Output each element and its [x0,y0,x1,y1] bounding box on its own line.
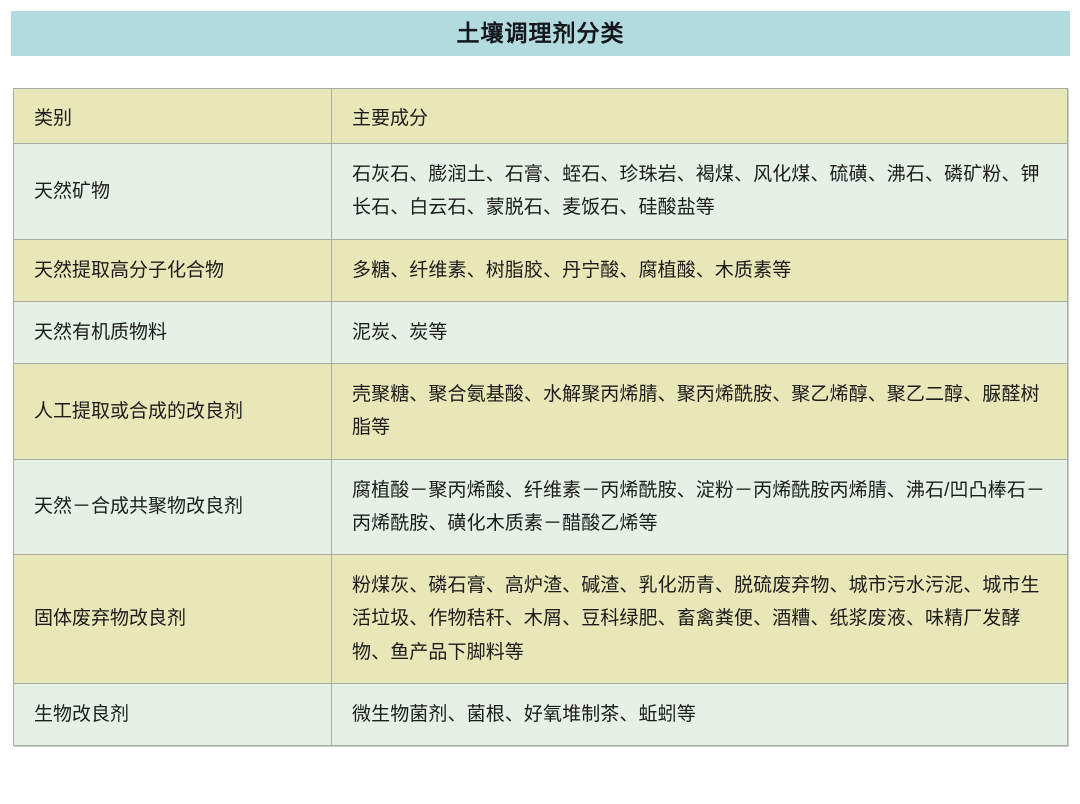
table-row: 天然－合成共聚物改良剂腐植酸－聚丙烯酸、纤维素－丙烯酰胺、淀粉－丙烯酰胺丙烯腈、… [14,459,1068,555]
cell-components: 微生物菌剂、菌根、好氧堆制茶、蚯蚓等 [332,683,1068,745]
cell-components: 壳聚糖、聚合氨基酸、水解聚丙烯腈、聚丙烯酰胺、聚乙烯醇、聚乙二醇、脲醛树脂等 [332,364,1068,460]
classification-table-container: 类别 主要成分 天然矿物石灰石、膨润土、石膏、蛭石、珍珠岩、褐煤、风化煤、硫磺、… [13,88,1068,746]
cell-components: 多糖、纤维素、树脂胶、丹宁酸、腐植酸、木质素等 [332,239,1068,301]
cell-category: 天然提取高分子化合物 [14,239,332,301]
cell-category: 天然－合成共聚物改良剂 [14,459,332,555]
page-root: 土壤调理剂分类 类别 主要成分 天然矿物石灰石、膨润土、石膏、蛭石、珍珠岩、褐煤… [0,0,1080,804]
table-row: 天然有机质物料泥炭、炭等 [14,301,1068,363]
table-row: 人工提取或合成的改良剂壳聚糖、聚合氨基酸、水解聚丙烯腈、聚丙烯酰胺、聚乙烯醇、聚… [14,364,1068,460]
cell-components: 粉煤灰、磷石膏、高炉渣、碱渣、乳化沥青、脱硫废弃物、城市污水污泥、城市生活垃圾、… [332,555,1068,684]
cell-category: 人工提取或合成的改良剂 [14,364,332,460]
table-header-row: 类别 主要成分 [14,89,1068,144]
cell-category: 生物改良剂 [14,683,332,745]
cell-category: 天然有机质物料 [14,301,332,363]
cell-components: 石灰石、膨润土、石膏、蛭石、珍珠岩、褐煤、风化煤、硫磺、沸石、磷矿粉、钾长石、白… [332,144,1068,240]
cell-category: 天然矿物 [14,144,332,240]
table-row: 天然矿物石灰石、膨润土、石膏、蛭石、珍珠岩、褐煤、风化煤、硫磺、沸石、磷矿粉、钾… [14,144,1068,240]
table-body: 天然矿物石灰石、膨润土、石膏、蛭石、珍珠岩、褐煤、风化煤、硫磺、沸石、磷矿粉、钾… [14,144,1068,746]
soil-conditioner-classification-table: 类别 主要成分 天然矿物石灰石、膨润土、石膏、蛭石、珍珠岩、褐煤、风化煤、硫磺、… [13,88,1068,746]
cell-components: 腐植酸－聚丙烯酸、纤维素－丙烯酰胺、淀粉－丙烯酰胺丙烯腈、沸石/凹凸棒石－丙烯酰… [332,459,1068,555]
column-header-components: 主要成分 [332,89,1068,144]
page-title: 土壤调理剂分类 [457,22,625,45]
page-title-banner: 土壤调理剂分类 [11,11,1070,56]
cell-category: 固体废弃物改良剂 [14,555,332,684]
cell-components: 泥炭、炭等 [332,301,1068,363]
table-header: 类别 主要成分 [14,89,1068,144]
table-row: 生物改良剂微生物菌剂、菌根、好氧堆制茶、蚯蚓等 [14,683,1068,745]
table-row: 固体废弃物改良剂粉煤灰、磷石膏、高炉渣、碱渣、乳化沥青、脱硫废弃物、城市污水污泥… [14,555,1068,684]
column-header-category: 类别 [14,89,332,144]
table-row: 天然提取高分子化合物多糖、纤维素、树脂胶、丹宁酸、腐植酸、木质素等 [14,239,1068,301]
